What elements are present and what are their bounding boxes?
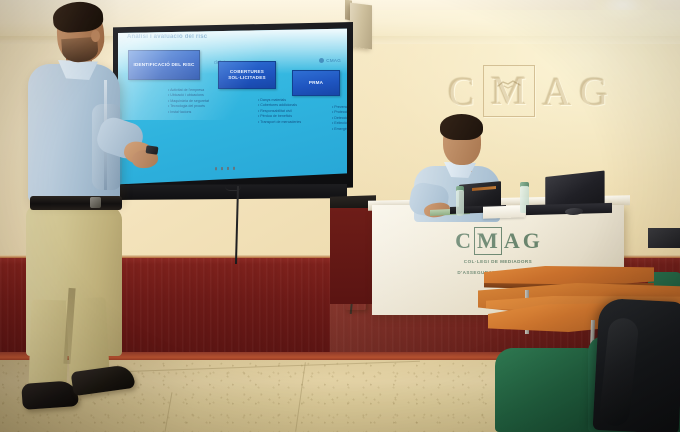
display-controls-secondary[interactable]: [215, 167, 237, 171]
slide-logo-mark: [319, 58, 324, 63]
presenter-shoe-left: [21, 380, 79, 410]
desk-face-left: [330, 208, 376, 304]
presenter-belt-buckle: [90, 197, 101, 208]
slide-bullets-column-3: Prevenció Protecció Detecció Extinció Em…: [292, 105, 347, 133]
list-item: Emergència: [332, 127, 347, 133]
presenter-belt: [30, 196, 122, 210]
presenter-ear: [91, 30, 100, 42]
presenter-leg-left: [28, 299, 69, 390]
name-card: [483, 205, 525, 218]
conference-room-photo: C M A G Anàlisi i avaluació del risc del…: [0, 0, 680, 432]
panelist-hair: [440, 114, 483, 140]
water-bottle-left: [456, 190, 464, 216]
slide-logo: CMAG: [319, 58, 341, 63]
presentation-clicker[interactable]: [146, 145, 159, 155]
wall-logo-cmag: C M A G: [448, 62, 616, 120]
slide-box-cobertures: COBERTURES SOL·LICITADES: [218, 61, 276, 89]
wall-logo-letter-g: G: [579, 68, 609, 115]
wall-logo-letter-c: C: [448, 68, 476, 115]
background-shelf: [648, 228, 680, 248]
slide-box-prma: PRMA: [292, 70, 340, 96]
wall-logo-letter-a: A: [542, 68, 572, 115]
slide-title: Anàlisi i avaluació del risc: [127, 34, 327, 40]
list-item: Protecció: [332, 110, 347, 116]
wall-speaker: [350, 3, 372, 50]
interactive-display[interactable]: Anàlisi i avaluació del risc del risc CM…: [113, 22, 353, 200]
wall-logo-letter-m: M: [483, 65, 536, 117]
handshake-icon: [496, 77, 522, 93]
slide-box-identificacio: IDENTIFICACIÓ DEL RISC: [128, 50, 200, 80]
